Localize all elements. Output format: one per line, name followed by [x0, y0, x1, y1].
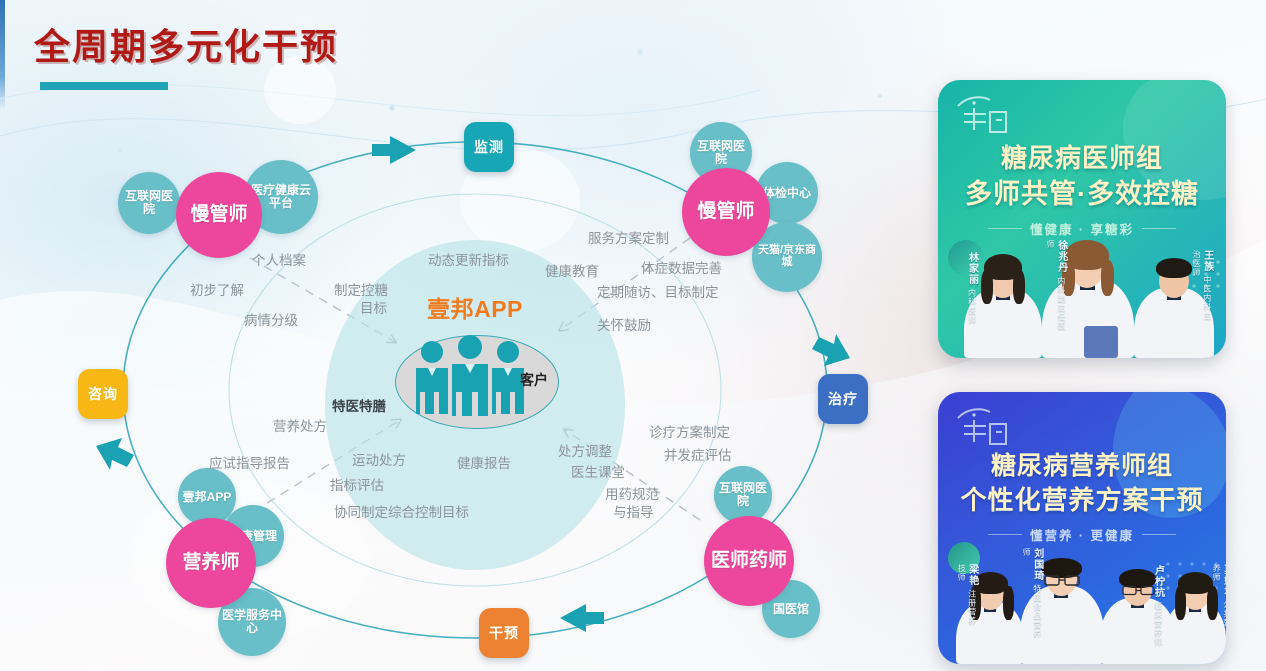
label-initial-understanding: 初步了解: [190, 282, 244, 300]
satellite-label: 天猫/京东商城: [752, 245, 822, 269]
dash-right: [1142, 534, 1176, 535]
satellite-internet-hospital-left[interactable]: 互联网医院: [118, 172, 180, 234]
glasses-icon: [1044, 574, 1080, 586]
satellite-label: 医学服务中心: [218, 609, 286, 635]
card-members-row: 林家丽 内科医师 徐兆丹 内科副主任医师: [938, 238, 1226, 358]
stage-chip-consult-label: 咨询: [88, 384, 118, 404]
card-headline-1: 糖尿病营养师组: [938, 446, 1226, 482]
label-health-report: 健康报告: [457, 455, 511, 473]
role-label: 营养师: [180, 553, 241, 574]
role-label: 慢管师: [695, 202, 756, 223]
member-name: 林家丽: [967, 252, 978, 285]
member-name-block: 卢柠抗 临床营养师: [1152, 565, 1164, 646]
member-name-block: 徐兆丹 内科副主任医师: [1046, 240, 1067, 336]
card-members-row: 梁艳 注册营养技师 刘国琦: [938, 544, 1226, 664]
card-headline-2: 多师共管·多效控糖: [938, 172, 1226, 211]
card-headline-1: 糖尿病医师组: [938, 138, 1226, 175]
label-special-diet: 特医特膳: [332, 398, 386, 416]
label-service-plan-custom: 服务方案定制: [588, 230, 669, 248]
label-prescription-adjust: 处方调整: [558, 443, 612, 461]
member-name: 梁艳: [967, 564, 978, 586]
role-label: 医师药师: [709, 551, 789, 572]
satellite-label: 互联网医院: [118, 190, 180, 216]
stage-chip-intervene-label: 干预: [489, 623, 519, 643]
member-name-block: 莫婉君 公共营养师: [1212, 564, 1226, 634]
card-member: 刘国琦 特医食品营养师: [1020, 548, 1104, 664]
card-member: 林家丽 内科医师: [964, 250, 1042, 358]
card-headline-2: 个性化营养方案干预: [938, 480, 1226, 517]
glasses-icon: [1122, 585, 1155, 596]
role-dietitian[interactable]: 营养师: [166, 518, 256, 608]
dash-left: [988, 534, 1022, 535]
doctor-group-card[interactable]: 糖尿病医师组 多师共管·多效控糖 懂健康 · 享糖彩: [938, 80, 1226, 358]
slide-canvas: 全周期多元化干预: [0, 0, 1266, 671]
satellite-label: 互联网医院: [690, 140, 752, 166]
satellite-label: 国医馆: [771, 603, 811, 616]
stage-chip-treat-label: 治疗: [828, 389, 858, 409]
label-doctor-class: 医生课堂: [571, 464, 625, 482]
tangjiankang-logo-icon: [952, 90, 1014, 144]
lifecycle-diagram: 壹邦APP 客户 监测 治疗 干预 咨询 互联网医院: [0, 0, 900, 671]
stage-chip-intervene[interactable]: 干预: [479, 608, 529, 658]
role-doctor-pharmacist[interactable]: 医师药师: [704, 516, 794, 606]
label-dynamic-index-update: 动态更新指标: [428, 252, 509, 270]
dietitian-group-card[interactable]: 糖尿病营养师组 个性化营养方案干预 懂营养 · 更健康: [938, 392, 1226, 664]
role-label: 慢管师: [188, 205, 249, 226]
card-inner: 糖尿病医师组 多师共管·多效控糖 懂健康 · 享糖彩: [938, 80, 1226, 358]
satellite-label: 体检中心: [761, 187, 813, 200]
stage-chip-consult[interactable]: 咨询: [78, 369, 128, 419]
member-name-block: 梁艳 注册营养技师: [957, 564, 978, 634]
satellite-label: 互联网医院: [714, 482, 772, 508]
label-treatment-plan: 诊疗方案制定: [649, 424, 730, 442]
label-medication-guide: 与指导: [613, 504, 654, 522]
card-subtitle: 懂健康 · 享糖彩: [1030, 219, 1134, 238]
role-chronic-manager-left[interactable]: 慢管师: [176, 172, 262, 258]
role-chronic-manager-right[interactable]: 慢管师: [682, 168, 770, 256]
dash-right: [1142, 228, 1176, 229]
member-name: 王族: [1202, 250, 1213, 272]
card-subtitle-row: 懂健康 · 享糖彩: [938, 218, 1226, 238]
label-symptom-data: 体症数据完善: [641, 260, 722, 278]
label-medication-norm: 用药规范: [605, 486, 659, 504]
member-title: 临床营养师: [1154, 601, 1163, 646]
card-member: 梁艳 注册营养技师: [956, 564, 1024, 664]
stage-chip-treat[interactable]: 治疗: [818, 374, 868, 424]
member-name-block: 刘国琦 特医食品营养师: [1022, 548, 1043, 646]
member-name: 莫婉君: [1222, 564, 1226, 597]
card-subtitle-row: 懂营养 · 更健康: [938, 524, 1226, 544]
label-guidance-report: 应试指导报告: [209, 455, 290, 473]
card-member: 徐兆丹 内科副主任医师: [1042, 240, 1134, 358]
member-name: 刘国琦: [1032, 548, 1043, 581]
dash-left: [988, 228, 1022, 229]
label-health-education: 健康教育: [545, 263, 599, 281]
card-member: 王族 中医内科主治医师: [1134, 250, 1214, 358]
label-set-glucose-goal: 制定控糖: [334, 282, 388, 300]
card-member: 莫婉君 公共营养师: [1164, 564, 1226, 664]
label-personal-file: 个人档案: [252, 252, 306, 270]
label-exercise-rx: 运动处方: [352, 452, 406, 470]
member-title: 内科医师: [968, 288, 977, 324]
stage-chip-monitor-label: 监测: [474, 137, 504, 157]
stage-chip-monitor[interactable]: 监测: [464, 122, 514, 172]
member-name-block: 王族 中医内科主治医师: [1192, 250, 1213, 324]
member-name: 卢柠抗: [1153, 565, 1164, 598]
label-followup-goal: 定期随访、目标制定: [597, 284, 719, 302]
customer-label: 客户: [520, 370, 548, 390]
member-name-block: 林家丽 内科医师: [966, 252, 978, 324]
member-name: 徐兆丹: [1056, 240, 1067, 273]
label-set-glucose-goal-2: 目标: [360, 300, 387, 318]
label-condition-grading: 病情分级: [244, 312, 298, 330]
label-complication-assess: 并发症评估: [664, 447, 732, 465]
label-index-assessment: 指标评估: [330, 477, 384, 495]
label-joint-control-goal: 协同制定综合控制目标: [334, 504, 469, 522]
card-subtitle: 懂营养 · 更健康: [1030, 525, 1134, 544]
card-inner: 糖尿病营养师组 个性化营养方案干预 懂营养 · 更健康: [938, 392, 1226, 664]
label-nutrition-rx: 营养处方: [273, 418, 327, 436]
clipboard-icon: [1084, 326, 1118, 358]
satellite-label: 壹邦APP: [181, 491, 234, 504]
label-care-encouragement: 关怀鼓励: [597, 317, 651, 335]
